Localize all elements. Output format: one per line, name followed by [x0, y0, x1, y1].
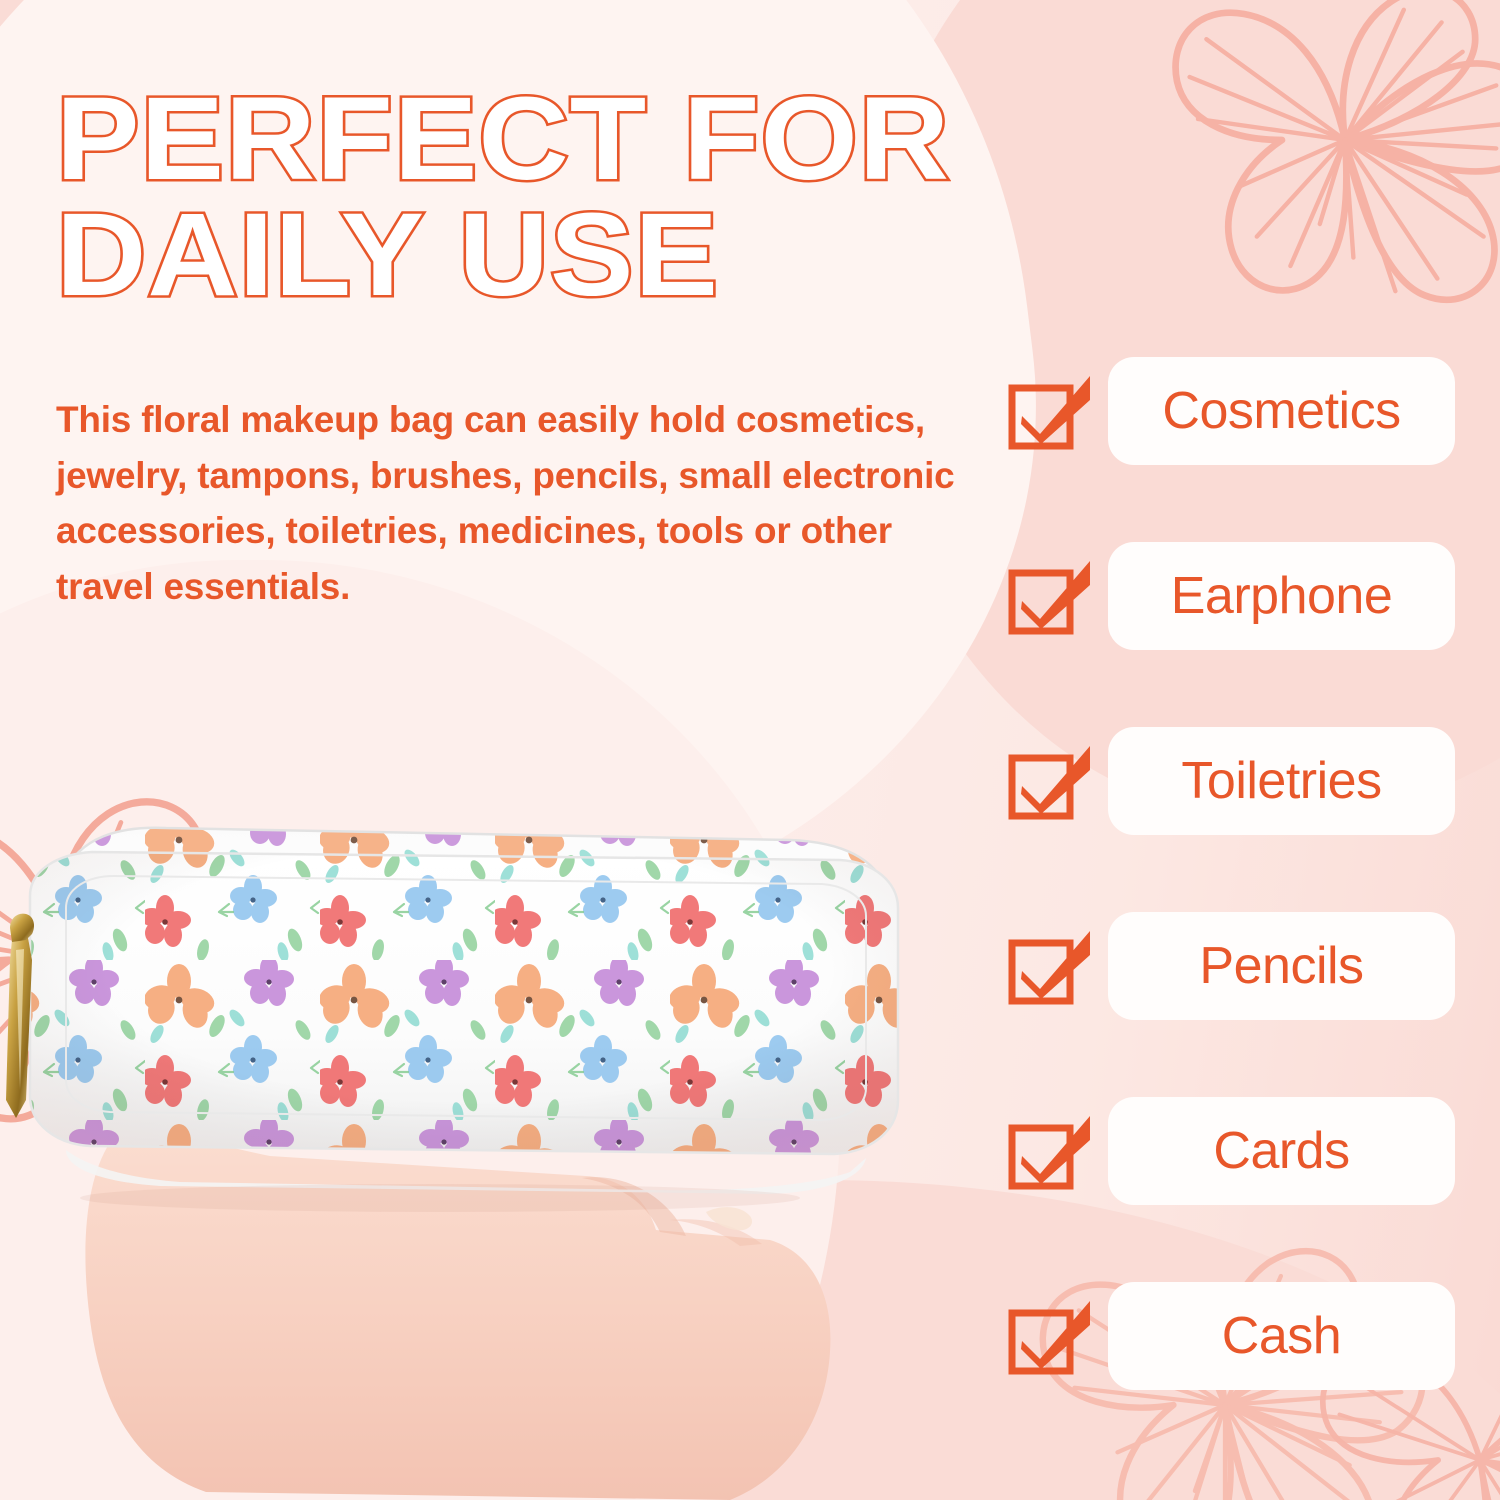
list-item[interactable]: Pencils — [1008, 907, 1500, 1025]
description-text: This floral makeup bag can easily hold c… — [56, 392, 987, 614]
list-item[interactable]: Cash — [1008, 1277, 1500, 1395]
feature-pill: Earphone — [1108, 542, 1455, 650]
checkbox-checked-icon[interactable] — [1008, 1297, 1094, 1375]
list-item-label: Pencils — [1199, 936, 1363, 996]
feature-pill: Toiletries — [1108, 727, 1455, 835]
feature-pill: Cosmetics — [1108, 357, 1455, 465]
poster-canvas: PERFECT FOR DAILY USE This floral makeup… — [0, 0, 1500, 1500]
list-item-label: Earphone — [1171, 566, 1393, 626]
list-item-label: Cosmetics — [1162, 381, 1400, 441]
feature-pill: Cash — [1108, 1282, 1455, 1390]
feature-pill: Cards — [1108, 1097, 1455, 1205]
list-item[interactable]: Earphone — [1008, 537, 1500, 655]
list-item-label: Cash — [1222, 1306, 1341, 1366]
feature-checklist: Cosmetics Earphone Toiletr — [1008, 352, 1500, 1395]
list-item-label: Toiletries — [1181, 751, 1381, 811]
hibiscus-flower-icon — [1130, 0, 1500, 350]
list-item[interactable]: Cosmetics — [1008, 352, 1500, 470]
checkbox-checked-icon[interactable] — [1008, 742, 1094, 820]
bag-body — [10, 840, 930, 1170]
page-title: PERFECT FOR DAILY USE — [56, 82, 1095, 313]
list-item[interactable]: Toiletries — [1008, 722, 1500, 840]
product-image — [0, 800, 980, 1500]
list-item[interactable]: Cards — [1008, 1092, 1500, 1210]
list-item-label: Cards — [1213, 1121, 1349, 1181]
checkbox-checked-icon[interactable] — [1008, 927, 1094, 1005]
checkbox-checked-icon[interactable] — [1008, 372, 1094, 450]
checkbox-checked-icon[interactable] — [1008, 557, 1094, 635]
checkbox-checked-icon[interactable] — [1008, 1112, 1094, 1190]
feature-pill: Pencils — [1108, 912, 1455, 1020]
